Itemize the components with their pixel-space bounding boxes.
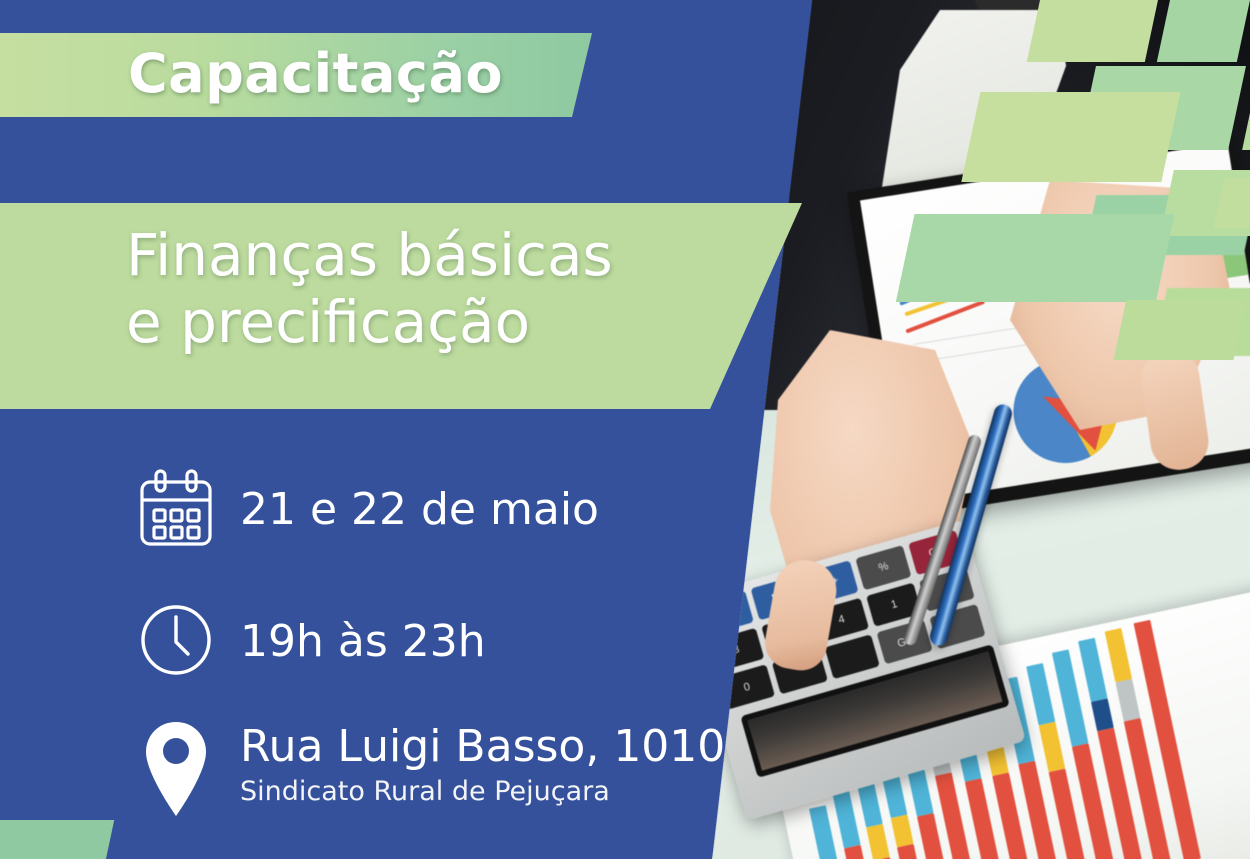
calendar-icon	[138, 468, 214, 553]
poster-canvas: MS M- M+ % CE 8 7 4 1 0 GT	[0, 0, 1250, 859]
date-text: 21 e 22 de maio	[240, 487, 599, 533]
decor-green-block-photo-lower	[1153, 288, 1250, 356]
address-text: Rua Luigi Basso, 1010	[240, 724, 725, 770]
calc-key-extra	[824, 634, 880, 679]
page-title: Finanças básicas e precificação	[126, 222, 726, 357]
title-line-2: e precificação	[126, 289, 726, 356]
clock-icon	[138, 600, 214, 685]
info-row-date: 21 e 22 de maio	[138, 468, 599, 553]
kicker-text: Capacitação	[128, 42, 503, 105]
decor-green-block-bottomleft	[0, 820, 114, 859]
info-row-place: Rua Luigi Basso, 1010 Sindicato Rural de…	[138, 718, 725, 829]
title-line-1: Finanças básicas	[126, 221, 613, 289]
decor-green-block-photo-upper	[1084, 195, 1250, 255]
calc-key-percent: %	[856, 545, 912, 590]
place-text-stack: Rua Luigi Basso, 1010 Sindicato Rural de…	[240, 718, 725, 807]
map-pin-icon	[138, 718, 214, 829]
venue-text: Sindicato Rural de Pejuçara	[240, 776, 725, 807]
time-text: 19h às 23h	[240, 619, 486, 665]
info-row-time: 19h às 23h	[138, 600, 486, 685]
